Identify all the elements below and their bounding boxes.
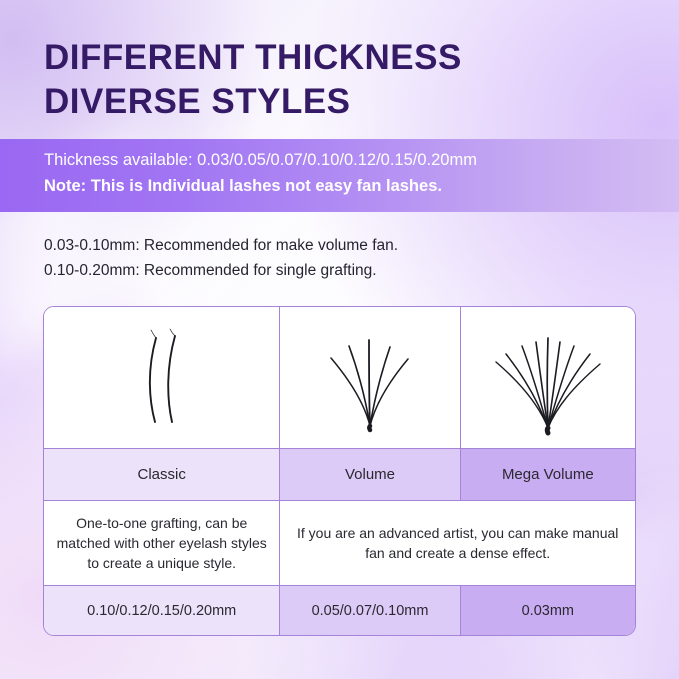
illustration-cell-mega-volume [461,307,635,448]
label-cell-classic: Classic [44,449,280,500]
thickness-volume: 0.05/0.07/0.10mm [312,603,429,619]
table-row-thickness: 0.10/0.12/0.15/0.20mm 0.05/0.07/0.10mm 0… [44,585,635,635]
thickness-mega-volume: 0.03mm [522,603,574,619]
thickness-cell-volume: 0.05/0.07/0.10mm [280,586,460,635]
banner-note: Note: This is Individual lashes not easy… [44,174,679,200]
label-volume: Volume [345,466,395,483]
mega-volume-fan-icon [478,314,618,442]
thickness-classic: 0.10/0.12/0.15/0.20mm [87,603,236,619]
classic-lash-icon [87,314,237,442]
description-volume-mega: If you are an advanced artist, you can m… [292,523,623,564]
description-classic: One-to-one grafting, can be matched with… [56,513,267,574]
thickness-cell-classic: 0.10/0.12/0.15/0.20mm [44,586,280,635]
label-classic: Classic [138,466,186,483]
title-line-1: DIFFERENT THICKNESS [44,36,644,80]
description-cell-classic: One-to-one grafting, can be matched with… [44,501,280,585]
label-mega-volume: Mega Volume [502,466,594,483]
recommendation-block: 0.03-0.10mm: Recommended for make volume… [44,233,644,283]
page-title: DIFFERENT THICKNESS DIVERSE STYLES [44,36,644,125]
title-line-2: DIVERSE STYLES [44,80,644,124]
thickness-banner: Thickness available: 0.03/0.05/0.07/0.10… [0,139,679,212]
illustration-cell-volume [280,307,460,448]
table-row-descriptions: One-to-one grafting, can be matched with… [44,501,635,585]
description-cell-volume-mega: If you are an advanced artist, you can m… [280,501,635,585]
table-row-labels: Classic Volume Mega Volume [44,448,635,501]
banner-thickness-available: Thickness available: 0.03/0.05/0.07/0.10… [44,148,679,174]
table-row-illustrations [44,307,635,448]
product-infographic-poster: DIFFERENT THICKNESS DIVERSE STYLES Thick… [0,0,679,679]
lash-comparison-table: Classic Volume Mega Volume One-to-one gr… [43,306,636,636]
recommendation-line-1: 0.03-0.10mm: Recommended for make volume… [44,233,644,258]
recommendation-line-2: 0.10-0.20mm: Recommended for single graf… [44,258,644,283]
thickness-cell-mega-volume: 0.03mm [461,586,635,635]
label-cell-volume: Volume [280,449,460,500]
volume-fan-icon [305,314,435,442]
illustration-cell-classic [44,307,280,448]
label-cell-mega-volume: Mega Volume [461,449,635,500]
